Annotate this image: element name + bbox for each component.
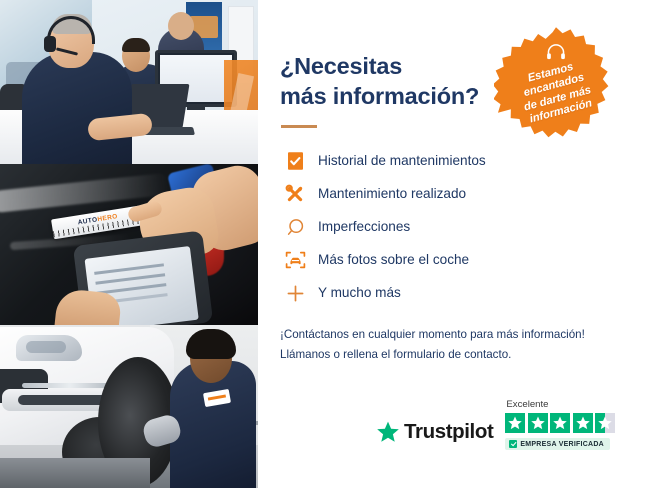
headset-earcup-shape — [44, 36, 56, 52]
trustpilot-wordmark: Trustpilot — [404, 420, 493, 444]
feature-item: Más fotos sobre el coche — [280, 245, 624, 276]
promo-card: AUTOHERO — [0, 0, 650, 488]
car-lift-platform-shape — [0, 458, 150, 488]
front-agent-body-shape — [22, 52, 132, 164]
feature-label: Más fotos sobre el coche — [318, 253, 469, 267]
background-person-head-shape — [168, 12, 194, 40]
technician-hair-shape — [186, 329, 236, 359]
star-filled — [550, 413, 570, 433]
verified-label: EMPRESA VERIFICADA — [520, 441, 604, 448]
feature-label: Imperfecciones — [318, 220, 410, 234]
badge-text: Estamos encantados de darte más informac… — [503, 54, 610, 131]
badge-content: Estamos encantados de darte más informac… — [494, 26, 618, 150]
car-inspection-ruler-photo: AUTOHERO — [0, 164, 258, 325]
photo-column: AUTOHERO — [0, 0, 258, 488]
verified-check-icon — [509, 440, 517, 448]
contact-paragraph: ¡Contáctanos en cualquier momento para m… — [280, 325, 624, 365]
bumper-vent-shape — [18, 395, 110, 405]
star-filled — [573, 413, 593, 433]
feature-item: Y mucho más — [280, 278, 624, 309]
trustpilot-star-icon — [376, 420, 400, 444]
rating-label: Excelente — [506, 399, 548, 410]
car-headlight-shape — [16, 335, 82, 361]
trustpilot-logo[interactable]: Trustpilot — [376, 420, 493, 450]
feature-label: Historial de mantenimientos — [318, 154, 486, 168]
second-agent-hair-shape — [122, 38, 150, 52]
contact-paragraph-line-1: ¡Contáctanos en cualquier momento para m… — [280, 328, 585, 341]
title-divider — [281, 125, 317, 128]
star-rating — [505, 413, 615, 433]
page-title-line-2: más información? — [280, 83, 479, 109]
feature-item: Imperfecciones — [280, 212, 624, 243]
page-title-line-1: ¿Necesitas — [280, 53, 402, 79]
star-filled — [528, 413, 548, 433]
feature-label: Y mucho más — [318, 286, 401, 300]
technician-tire-inspection-photo — [0, 325, 258, 488]
feature-item: Mantenimiento realizado — [280, 179, 624, 210]
magnifier-icon — [280, 214, 310, 240]
star-half — [595, 413, 615, 433]
call-center-agents-photo — [0, 0, 258, 164]
feature-item: Historial de mantenimientos — [280, 146, 624, 177]
contact-paragraph-line-2: Llámanos o rellena el formulario de cont… — [280, 348, 511, 361]
checklist-document-icon — [280, 148, 310, 174]
trustpilot-block[interactable]: Trustpilot Excelente — [376, 399, 615, 450]
feature-label: Mantenimiento realizado — [318, 187, 466, 201]
feature-list: Historial de mantenimientos Mantenimient… — [280, 146, 624, 309]
star-filled — [505, 413, 525, 433]
trustpilot-rating: Excelente — [505, 399, 615, 450]
tools-wrench-screwdriver-icon — [280, 181, 310, 207]
starburst-badge: Estamos encantados de darte más informac… — [494, 26, 618, 150]
headset-icon — [546, 44, 566, 65]
status-badge: EMPRESA VERIFICADA — [505, 438, 610, 450]
plus-icon — [280, 280, 310, 306]
page-title: ¿Necesitas más información? — [280, 52, 505, 111]
car-scan-photo-icon — [280, 247, 310, 273]
